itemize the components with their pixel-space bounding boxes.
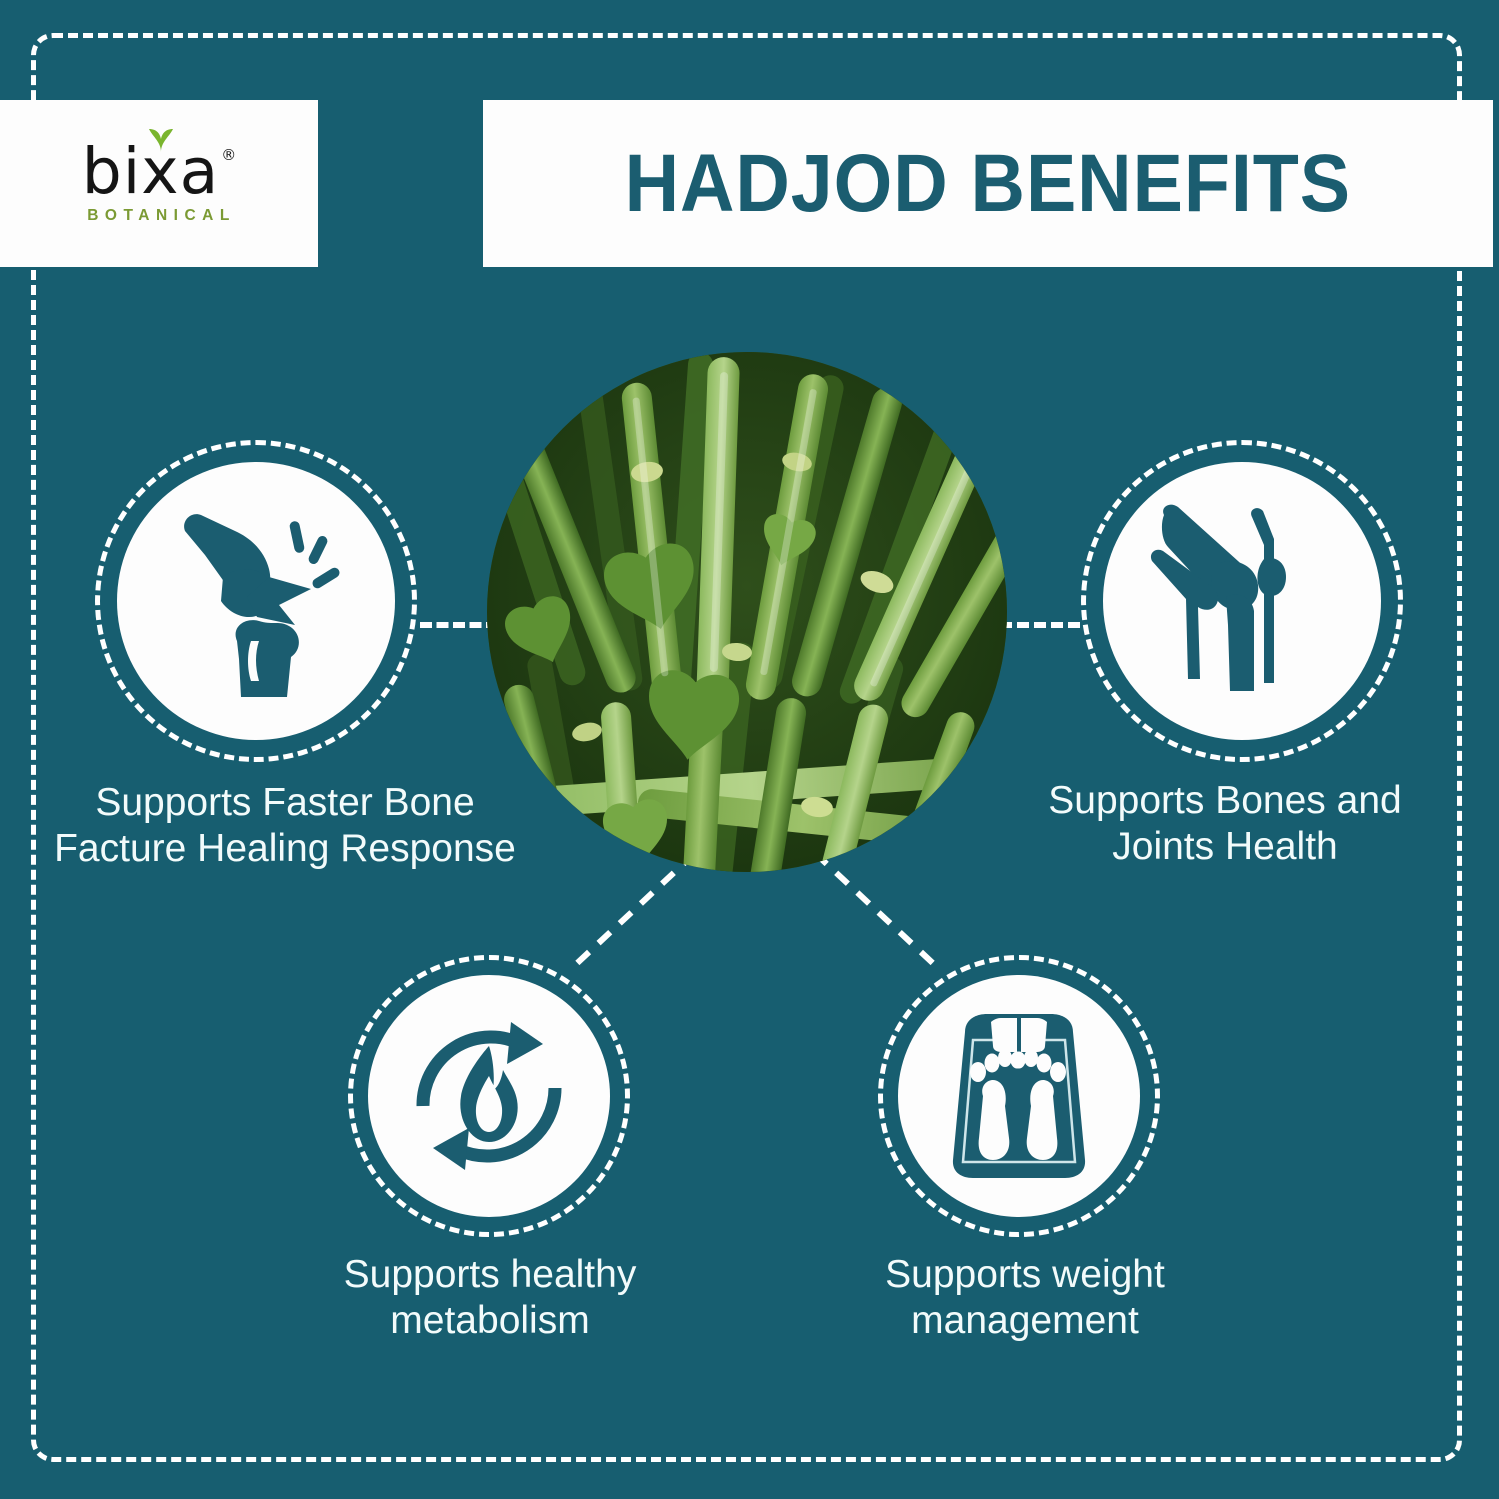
brand-logo: bixa ® BOTANICAL — [59, 128, 259, 240]
page-title: HADJOD BENEFITS — [625, 137, 1351, 231]
icon-disc-weight — [898, 975, 1140, 1217]
registered-mark: ® — [221, 146, 236, 164]
icon-disc-fracture — [117, 462, 395, 740]
connector-metabolism — [555, 845, 700, 975]
brand-tagline: BOTANICAL — [87, 207, 236, 225]
infographic-poster: bixa ® BOTANICAL HADJOD BENEFITS — [0, 0, 1499, 1499]
bone-fracture-icon — [161, 501, 351, 701]
benefit-label-joints: Supports Bones and Joints Health — [995, 778, 1455, 870]
brand-logo-panel: bixa ® BOTANICAL — [0, 100, 318, 267]
icon-disc-joints — [1103, 462, 1381, 740]
flame-cycle-icon — [403, 1010, 575, 1182]
weight-scale-icon — [935, 1010, 1103, 1182]
icon-disc-metabolism — [368, 975, 610, 1217]
connector-joints — [1000, 622, 1080, 628]
center-plant-photo — [487, 352, 1007, 872]
benefit-label-fracture: Supports Faster Bone Facture Healing Res… — [30, 780, 540, 872]
knee-joint-icon — [1142, 501, 1342, 701]
connector-weight — [810, 845, 955, 975]
brand-logo-mark: bixa ® — [82, 142, 236, 202]
leaf-icon — [148, 128, 174, 152]
title-panel: HADJOD BENEFITS — [483, 100, 1493, 267]
benefit-label-weight: Supports weight management — [790, 1252, 1260, 1344]
benefit-label-metabolism: Supports healthy metabolism — [255, 1252, 725, 1344]
